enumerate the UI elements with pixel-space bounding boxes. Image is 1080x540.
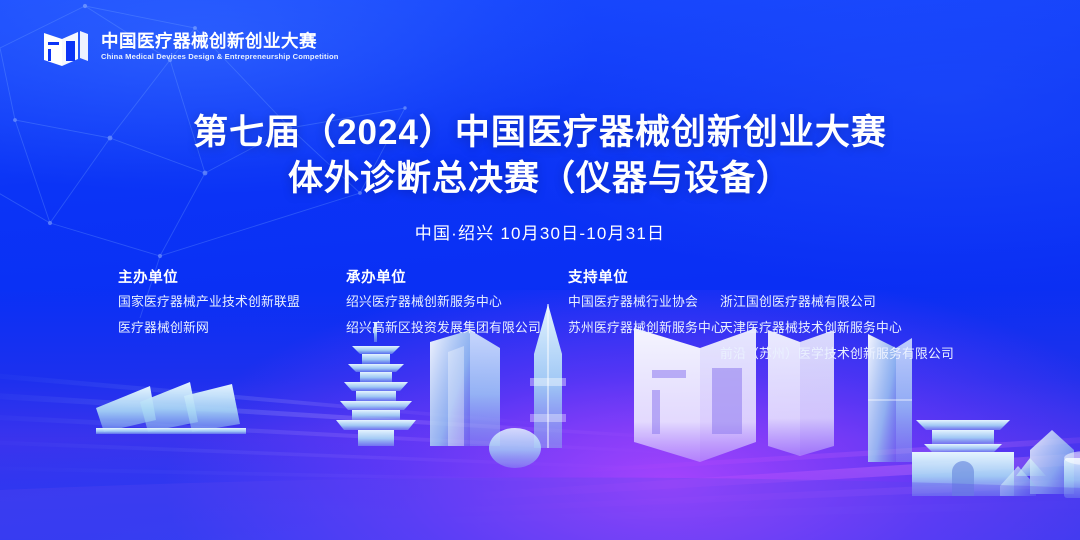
organizer-columns: 主办单位 国家医疗器械产业技术创新联盟 医疗器械创新网 承办单位 绍兴医疗器械创… [118,266,998,373]
organizer-column-undertaker: 承办单位 绍兴医疗器械创新服务中心 绍兴高新区投资发展集团有限公司 [346,266,568,373]
brand-lockup: 中国医疗器械创新创业大赛 China Medical Devices Desig… [42,24,339,70]
event-poster: 中国医疗器械创新创业大赛 China Medical Devices Desig… [0,0,1080,540]
organizer-item: 医疗器械创新网 [118,322,346,335]
title-line-2: 体外诊断总决赛（仪器与设备） [0,156,1080,202]
organizer-item: 国家医疗器械产业技术创新联盟 [118,296,346,309]
brand-name-en: China Medical Devices Design & Entrepren… [101,53,339,61]
organizer-item: 浙江国创医疗器械有限公司 [720,296,980,309]
organizer-heading: 主办单位 [118,266,346,287]
title-line-1: 第七届（2024）中国医疗器械创新创业大赛 [0,110,1080,156]
organizer-column-host: 主办单位 国家医疗器械产业技术创新联盟 医疗器械创新网 [118,266,346,373]
organizer-item: 苏州医疗器械创新服务中心 [568,322,720,335]
organizer-heading: 支持单位 [568,266,720,287]
organizer-column-supporter-continued: 支持单位（续） 浙江国创医疗器械有限公司 天津医疗器械技术创新服务中心 前沿（苏… [720,266,980,373]
page-title: 第七届（2024）中国医疗器械创新创业大赛 体外诊断总决赛（仪器与设备） [0,110,1080,202]
brand-name-cn: 中国医疗器械创新创业大赛 [101,33,339,51]
organizer-item: 绍兴高新区投资发展集团有限公司 [346,322,568,335]
organizer-heading: 承办单位 [346,266,568,287]
organizer-item: 天津医疗器械技术创新服务中心 [720,322,980,335]
organizer-item: 前沿（苏州）医学技术创新服务有限公司 [720,348,980,361]
opera-house-icon [96,382,246,434]
organizer-item: 绍兴医疗器械创新服务中心 [346,296,568,309]
open-book-frame-logo-icon [42,24,90,70]
organizer-column-supporter: 支持单位 中国医疗器械行业协会 苏州医疗器械创新服务中心 [568,266,720,373]
organizer-item: 中国医疗器械行业协会 [568,296,720,309]
location-date: 中国·绍兴 10月30日-10月31日 [0,219,1080,244]
